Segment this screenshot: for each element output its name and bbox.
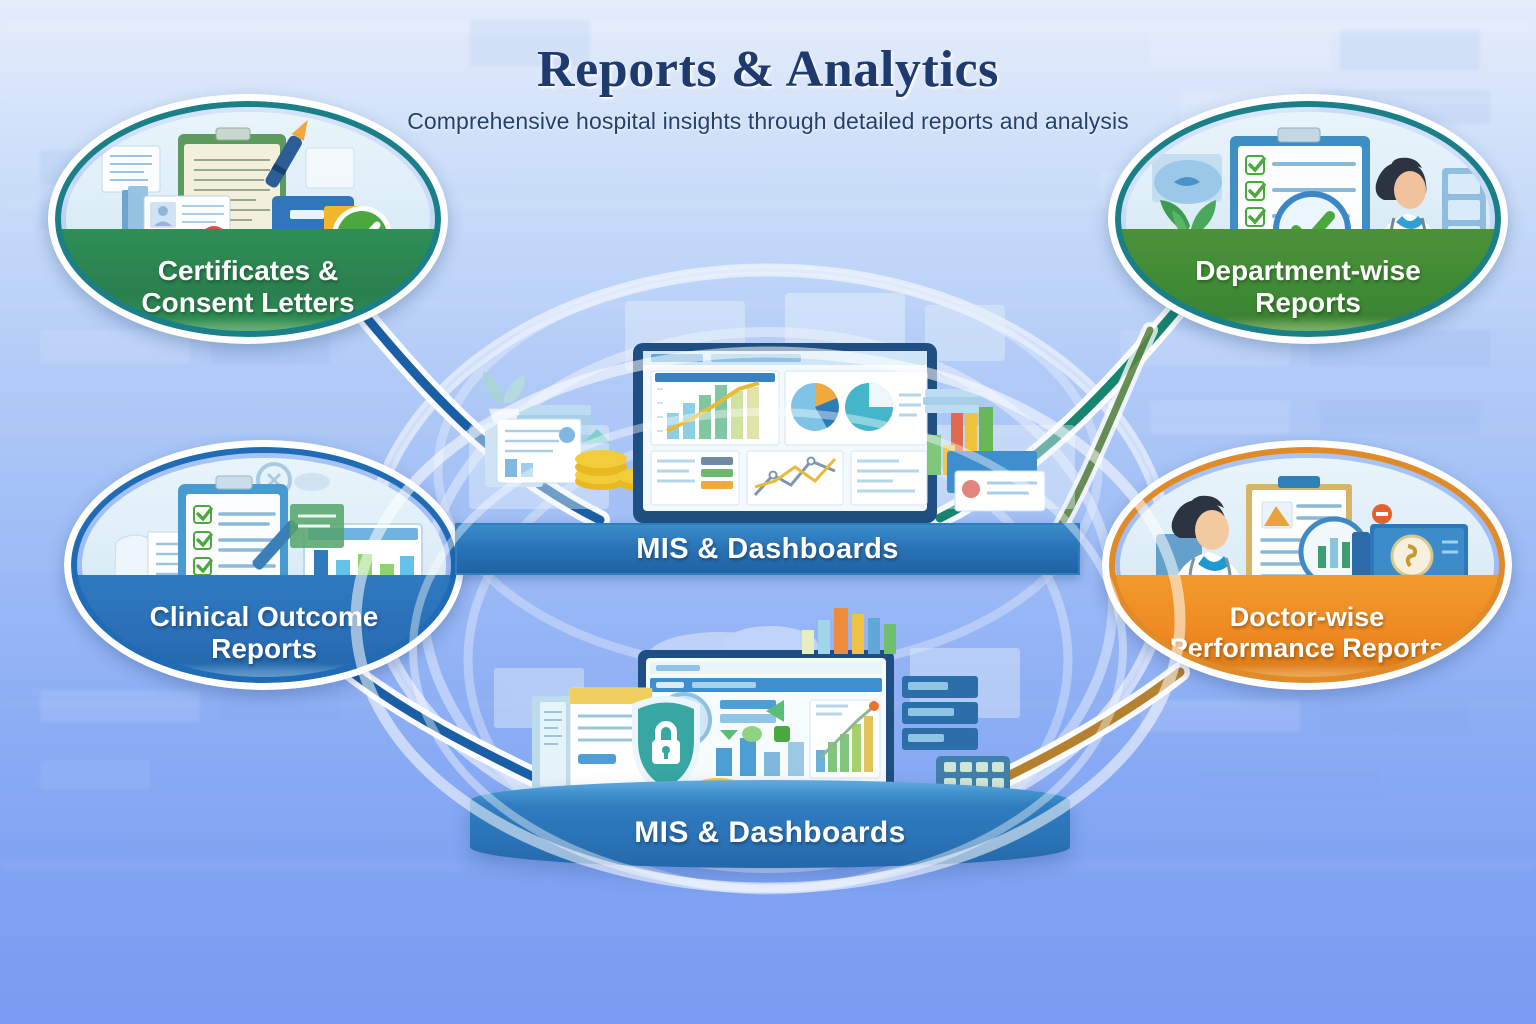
node-label-bottom: MIS & Dashboards (634, 816, 905, 850)
node-label-line1: Clinical Outcome (150, 601, 379, 632)
node-label-doctor: Doctor-wise Performance Reports (1102, 575, 1512, 690)
page-title: Reports & Analytics (0, 40, 1536, 99)
node-label-department: Department-wise Reports (1108, 229, 1508, 344)
node-label-line2: Consent Letters (141, 287, 354, 318)
node-label-line2: Reports (150, 633, 379, 664)
node-label-line2: Reports (1195, 287, 1421, 318)
node-label-clinical: Clinical Outcome Reports (64, 575, 464, 690)
node-label-certificates: Certificates & Consent Letters (48, 229, 448, 344)
node-doctor-wise-performance-reports[interactable]: Doctor-wise Performance Reports (1102, 440, 1512, 690)
header: Reports & Analytics Comprehensive hospit… (0, 0, 1536, 135)
node-mis-dashboards-bottom[interactable]: MIS & Dashboards (470, 608, 1070, 868)
node-pedestal-bottom: MIS & Dashboards (470, 780, 1070, 868)
node-clinical-outcome-reports[interactable]: Clinical Outcome Reports (64, 440, 464, 690)
infographic-canvas: Reports & Analytics Comprehensive hospit… (0, 0, 1536, 1024)
node-label-line1: Doctor-wise (1170, 602, 1445, 632)
node-label-line1: Department-wise (1195, 255, 1421, 286)
node-label-line1: Certificates & (141, 255, 354, 286)
monitor-shield-lock-dashboard-icon (470, 608, 1070, 808)
node-label-center: MIS & Dashboards (455, 523, 1080, 575)
node-mis-dashboards-center[interactable]: MIS & Dashboards (455, 285, 1080, 575)
node-label-line2: Performance Reports (1170, 633, 1445, 663)
laptop-dashboard-icon (455, 285, 1080, 525)
page-subtitle: Comprehensive hospital insights through … (0, 108, 1536, 135)
